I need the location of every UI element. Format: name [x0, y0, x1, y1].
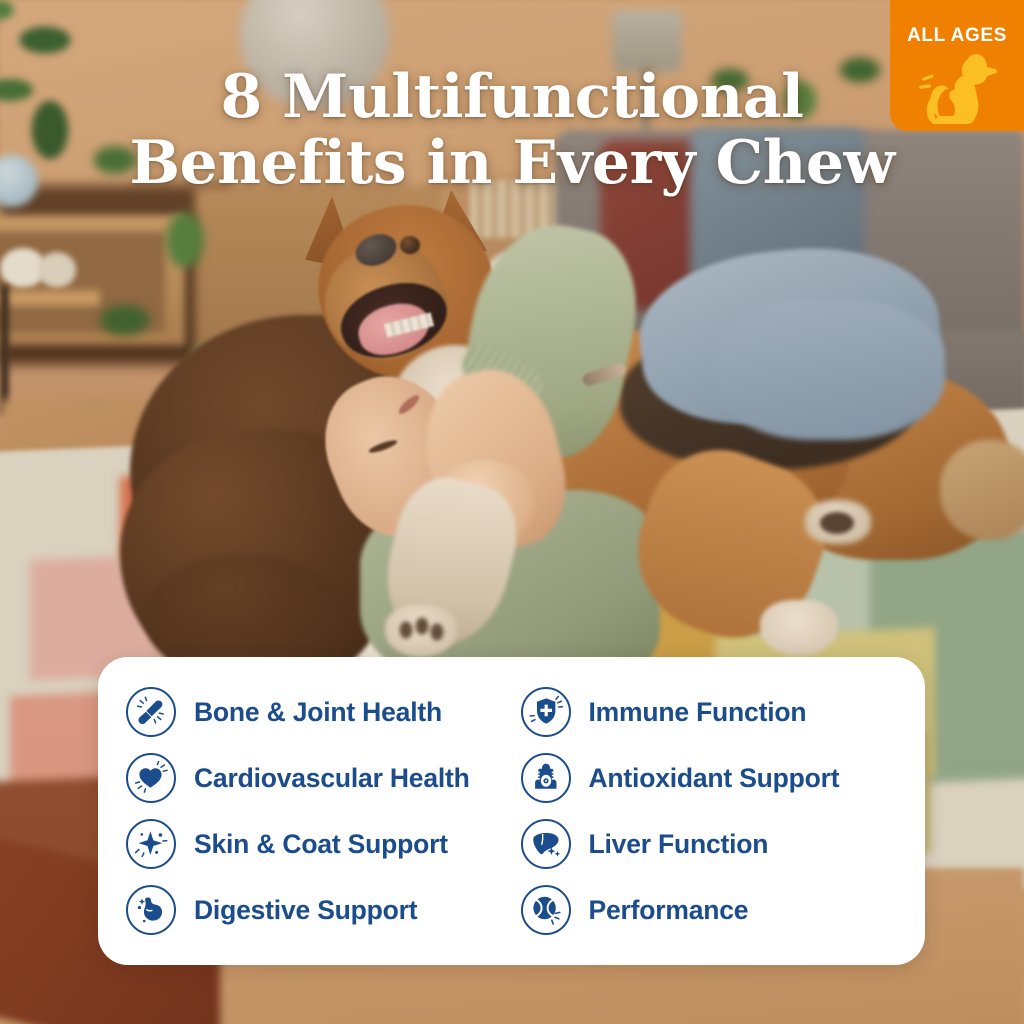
- benefits-panel: Bone & Joint Health: [98, 657, 925, 965]
- benefit-digestive-support: Digestive Support: [126, 877, 501, 943]
- benefit-label: Performance: [589, 895, 749, 926]
- benefit-label: Digestive Support: [194, 895, 417, 926]
- dog-eye: [400, 236, 420, 254]
- dog-hind-leg: [940, 440, 1024, 540]
- stomach-icon: [126, 885, 176, 935]
- benefit-liver-function: Liver Function: [521, 811, 896, 877]
- benefit-label: Liver Function: [589, 829, 769, 860]
- benefit-label: Cardiovascular Health: [194, 763, 470, 794]
- sitting-dog-silhouette-icon: [914, 48, 1006, 124]
- dog-paw-right: [760, 600, 838, 656]
- tennis-ball-icon: [521, 885, 571, 935]
- liver-icon: [521, 819, 571, 869]
- dog-rear-paw-pad: [820, 512, 854, 534]
- infographic-canvas: 8 Multifunctional Benefits in Every Chew…: [0, 0, 1024, 1024]
- all-ages-label: ALL AGES: [890, 25, 1024, 47]
- benefit-bone-joint-health: Bone & Joint Health: [126, 679, 501, 745]
- benefit-skin-coat-support: Skin & Coat Support: [126, 811, 501, 877]
- benefit-label: Immune Function: [589, 697, 807, 728]
- womans-jeans-lower: [715, 300, 945, 440]
- side-table-leg: [0, 285, 9, 415]
- page-title: 8 Multifunctional Benefits in Every Chew: [0, 64, 1024, 196]
- all-ages-badge: ALL AGES: [890, 0, 1024, 131]
- benefit-label: Bone & Joint Health: [194, 697, 442, 728]
- cell-molecule-icon: [521, 753, 571, 803]
- benefit-antioxidant-support: Antioxidant Support: [521, 745, 896, 811]
- heart-icon: [126, 753, 176, 803]
- bone-joint-icon: [126, 687, 176, 737]
- headline-line-2: Benefits in Every Chew: [0, 130, 1024, 196]
- benefit-immune-function: Immune Function: [521, 679, 896, 745]
- sparkle-icon: [126, 819, 176, 869]
- benefit-cardiovascular-health: Cardiovascular Health: [126, 745, 501, 811]
- benefit-label: Skin & Coat Support: [194, 829, 448, 860]
- benefit-performance: Performance: [521, 877, 896, 943]
- benefit-label: Antioxidant Support: [589, 763, 840, 794]
- dog-paw-pads: [398, 616, 444, 646]
- shield-plus-icon: [521, 687, 571, 737]
- headline-line-1: 8 Multifunctional: [0, 64, 1024, 130]
